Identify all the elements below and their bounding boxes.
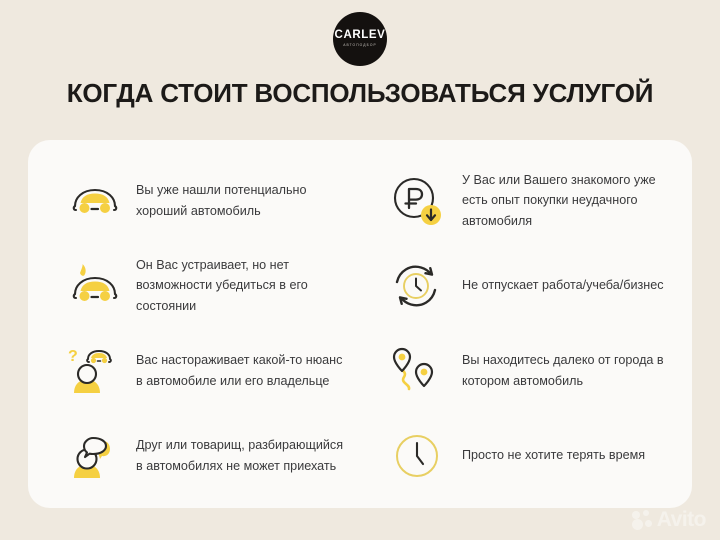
clock-refresh-icon (386, 255, 448, 317)
car-icon (64, 170, 126, 232)
person-speech-bubble-icon (64, 425, 126, 487)
list-item-text: Вы уже нашли потенциально хороший автомо… (126, 180, 352, 221)
person-question-car-icon: ? (64, 340, 126, 402)
benefits-card: Вы уже нашли потенциально хороший автомо… (28, 140, 692, 508)
list-item-text: Просто не хотите терять время (448, 445, 645, 465)
list-item-text: У Вас или Вашего знакомого уже есть опыт… (448, 170, 676, 231)
avito-logo-icon (632, 510, 654, 530)
list-item-text: Не отпускает работа/учеба/бизнес (448, 275, 664, 295)
list-item-text: Вас настораживает какой-то нюанс в автом… (126, 350, 352, 391)
logo-tagline: АВТОПОДБОР (343, 44, 377, 47)
brand-logo: CARLEV АВТОПОДБОР (0, 12, 720, 66)
list-item: Друг или товарищ, разбирающийся в автомо… (64, 413, 352, 498)
list-item: Вы уже нашли потенциально хороший автомо… (64, 158, 352, 243)
map-route-pins-icon (386, 340, 448, 402)
avito-watermark: Avito (632, 509, 706, 530)
benefits-column-left: Вы уже нашли потенциально хороший автомо… (34, 158, 360, 498)
list-item: Вы находитесь далеко от города в котором… (386, 328, 676, 413)
list-item-text: Он Вас устраивает, но нет возможности уб… (126, 255, 352, 316)
ruble-down-arrow-icon (386, 170, 448, 232)
benefits-columns: Вы уже нашли потенциально хороший автомо… (28, 140, 692, 508)
logo-name: CARLEV (335, 30, 386, 42)
list-item-text: Друг или товарищ, разбирающийся в автомо… (126, 435, 352, 476)
benefits-column-right: У Вас или Вашего знакомого уже есть опыт… (360, 158, 686, 498)
list-item: Он Вас устраивает, но нет возможности уб… (64, 243, 352, 328)
list-item: Просто не хотите терять время (386, 413, 676, 498)
list-item: У Вас или Вашего знакомого уже есть опыт… (386, 158, 676, 243)
list-item: Не отпускает работа/учеба/бизнес (386, 243, 676, 328)
clock-icon (386, 425, 448, 487)
logo-circle: CARLEV АВТОПОДБОР (333, 12, 387, 66)
car-flame-icon (64, 255, 126, 317)
list-item-text: Вы находитесь далеко от города в котором… (448, 350, 676, 391)
svg-text:?: ? (68, 348, 78, 365)
list-item: ? Вас настораживает какой-то нюанс в авт… (64, 328, 352, 413)
page-title: КОГДА СТОИТ ВОСПОЛЬЗОВАТЬСЯ УСЛУГОЙ (0, 78, 720, 109)
avito-wordmark: Avito (657, 509, 706, 530)
